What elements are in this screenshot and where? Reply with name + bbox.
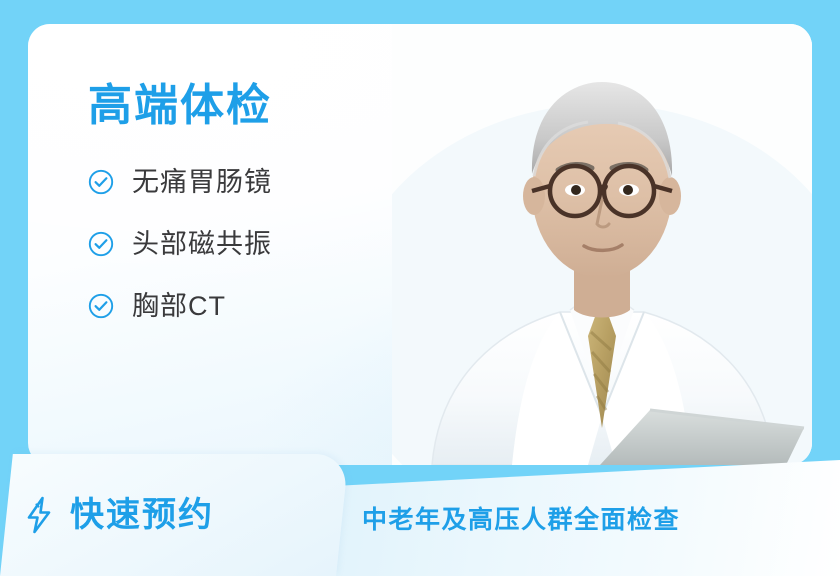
- copy-block: 高端体检 无痛胃肠镜 头部磁共振: [88, 82, 448, 350]
- list-item-label: 头部磁共振: [132, 231, 272, 258]
- doctor-portrait-illustration: [392, 24, 812, 465]
- list-item: 头部磁共振: [88, 226, 448, 262]
- quick-booking-button[interactable]: 快速预约: [0, 454, 336, 576]
- check-circle-icon: [88, 231, 114, 257]
- lightning-bolt-icon: [22, 495, 56, 535]
- footer-bar: 中老年及高压人群全面检查 快速预约: [0, 448, 840, 576]
- promo-banner: 高端体检 无痛胃肠镜 头部磁共振: [0, 0, 840, 576]
- quick-booking-label: 快速预约: [70, 498, 214, 532]
- list-item-label: 无痛胃肠镜: [132, 169, 272, 196]
- check-circle-icon: [88, 293, 114, 319]
- list-item: 胸部CT: [88, 288, 448, 324]
- feature-list: 无痛胃肠镜 头部磁共振 胸部CT: [88, 164, 448, 324]
- list-item-label: 胸部CT: [132, 293, 226, 320]
- tagline-panel: 中老年及高压人群全面检查: [300, 448, 840, 576]
- check-circle-icon: [88, 169, 114, 195]
- page-title: 高端体检: [88, 82, 448, 130]
- doctor-portrait: [392, 24, 812, 465]
- tagline-text: 中老年及高压人群全面检查: [362, 500, 680, 536]
- list-item: 无痛胃肠镜: [88, 164, 448, 200]
- promo-card: 高端体检 无痛胃肠镜 头部磁共振: [28, 24, 812, 465]
